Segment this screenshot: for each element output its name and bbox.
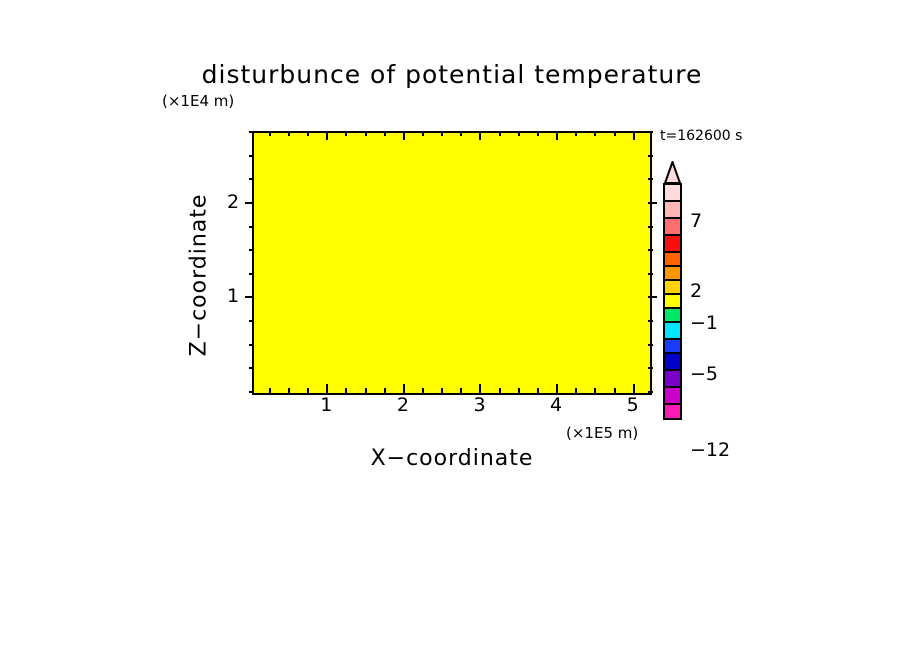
colorbar-arrow-icon — [663, 161, 682, 184]
x-axis-tick — [556, 131, 558, 140]
x-axis-tick — [384, 388, 386, 393]
y-tick-label: 1 — [227, 285, 239, 307]
y-axis-tick — [648, 273, 653, 275]
colorbar-band — [663, 234, 682, 251]
heatmap-field — [254, 133, 650, 393]
x-axis-tick — [326, 384, 328, 393]
x-axis-tick — [441, 131, 443, 136]
y-axis-tick — [249, 320, 254, 322]
x-axis-tick — [479, 384, 481, 393]
x-axis-tick — [575, 131, 577, 136]
colorbar-band — [663, 321, 682, 338]
colorbar-label: −1 — [690, 312, 718, 334]
x-axis-tick — [556, 384, 558, 393]
x-axis-tick — [422, 131, 424, 136]
y-axis-tick — [648, 131, 653, 133]
heatmap-plot-area — [252, 131, 652, 395]
x-axis-title: X−coordinate — [371, 446, 534, 471]
y-axis-tick — [648, 178, 653, 180]
colorbar-band — [663, 293, 682, 307]
colorbar-label: 7 — [690, 210, 702, 232]
colorbar-band — [663, 352, 682, 369]
y-axis-tick — [249, 391, 254, 393]
y-tick-label: 2 — [227, 191, 239, 213]
x-axis-tick — [575, 388, 577, 393]
x-axis-tick — [365, 131, 367, 136]
x-axis-tick — [422, 388, 424, 393]
x-axis-tick — [269, 388, 271, 393]
colorbar-band — [663, 279, 682, 293]
x-axis-tick — [326, 131, 328, 140]
x-axis-tick — [460, 388, 462, 393]
x-axis-tick — [460, 131, 462, 136]
x-axis-tick — [307, 131, 309, 136]
colorbar-band — [663, 369, 682, 386]
y-axis-tick — [245, 296, 254, 298]
x-axis-tick — [441, 388, 443, 393]
y-axis-tick — [648, 391, 653, 393]
y-axis-tick — [249, 344, 254, 346]
x-axis-tick — [614, 131, 616, 136]
x-axis-unit-label: (×1E5 m) — [566, 424, 638, 442]
x-axis-tick — [518, 388, 520, 393]
x-tick-label: 2 — [397, 394, 409, 416]
x-axis-tick — [537, 388, 539, 393]
x-axis-tick — [633, 384, 635, 393]
y-axis-tick — [249, 249, 254, 251]
y-axis-tick — [249, 367, 254, 369]
y-axis-tick — [249, 178, 254, 180]
x-axis-tick — [499, 131, 501, 136]
y-axis-tick — [648, 367, 653, 369]
colorbar-band — [663, 217, 682, 234]
y-axis-tick — [648, 296, 657, 298]
colorbar-band — [663, 307, 682, 321]
x-axis-tick — [365, 388, 367, 393]
colorbar-label: −12 — [690, 439, 730, 461]
x-axis-tick — [594, 388, 596, 393]
y-axis-tick — [648, 249, 653, 251]
timestamp-annotation: t=162600 s — [660, 128, 742, 144]
colorbar-band — [663, 183, 682, 200]
x-axis-tick — [633, 131, 635, 140]
y-axis-title: Z−coordinate — [187, 194, 212, 357]
x-axis-tick — [307, 388, 309, 393]
colorbar-band — [663, 251, 682, 265]
colorbar-label: 2 — [690, 280, 702, 302]
colorbar-band — [663, 403, 682, 420]
x-axis-tick — [403, 131, 405, 140]
y-axis-tick — [249, 131, 254, 133]
x-axis-tick — [288, 388, 290, 393]
page-title: disturbunce of potential temperature — [202, 60, 703, 89]
y-axis-tick — [245, 202, 254, 204]
x-axis-tick — [594, 131, 596, 136]
y-axis-unit-label: (×1E4 m) — [162, 92, 234, 110]
x-tick-label: 3 — [473, 394, 485, 416]
colorbar-band — [663, 386, 682, 403]
x-axis-tick — [269, 131, 271, 136]
y-axis-tick — [249, 226, 254, 228]
colorbar-band — [663, 265, 682, 279]
x-axis-tick — [288, 131, 290, 136]
colorbar-band — [663, 338, 682, 352]
x-axis-tick — [518, 131, 520, 136]
x-tick-label: 5 — [627, 394, 639, 416]
x-axis-tick — [614, 388, 616, 393]
y-axis-tick — [648, 320, 653, 322]
y-axis-tick — [648, 226, 653, 228]
x-axis-tick — [345, 388, 347, 393]
y-axis-tick — [249, 273, 254, 275]
colorbar — [663, 183, 682, 420]
x-axis-tick — [403, 384, 405, 393]
y-axis-tick — [648, 202, 657, 204]
x-axis-tick — [384, 131, 386, 136]
x-axis-tick — [499, 388, 501, 393]
x-tick-label: 4 — [550, 394, 562, 416]
x-tick-label: 1 — [320, 394, 332, 416]
y-axis-tick — [648, 344, 653, 346]
colorbar-overflow-arrow — [663, 161, 682, 184]
figure-canvas: disturbunce of potential temperature (×1… — [0, 0, 904, 654]
y-axis-tick — [648, 155, 653, 157]
colorbar-band — [663, 200, 682, 217]
y-axis-tick — [249, 155, 254, 157]
colorbar-label: −5 — [690, 363, 718, 385]
x-axis-tick — [537, 131, 539, 136]
x-axis-tick — [479, 131, 481, 140]
x-axis-tick — [345, 131, 347, 136]
